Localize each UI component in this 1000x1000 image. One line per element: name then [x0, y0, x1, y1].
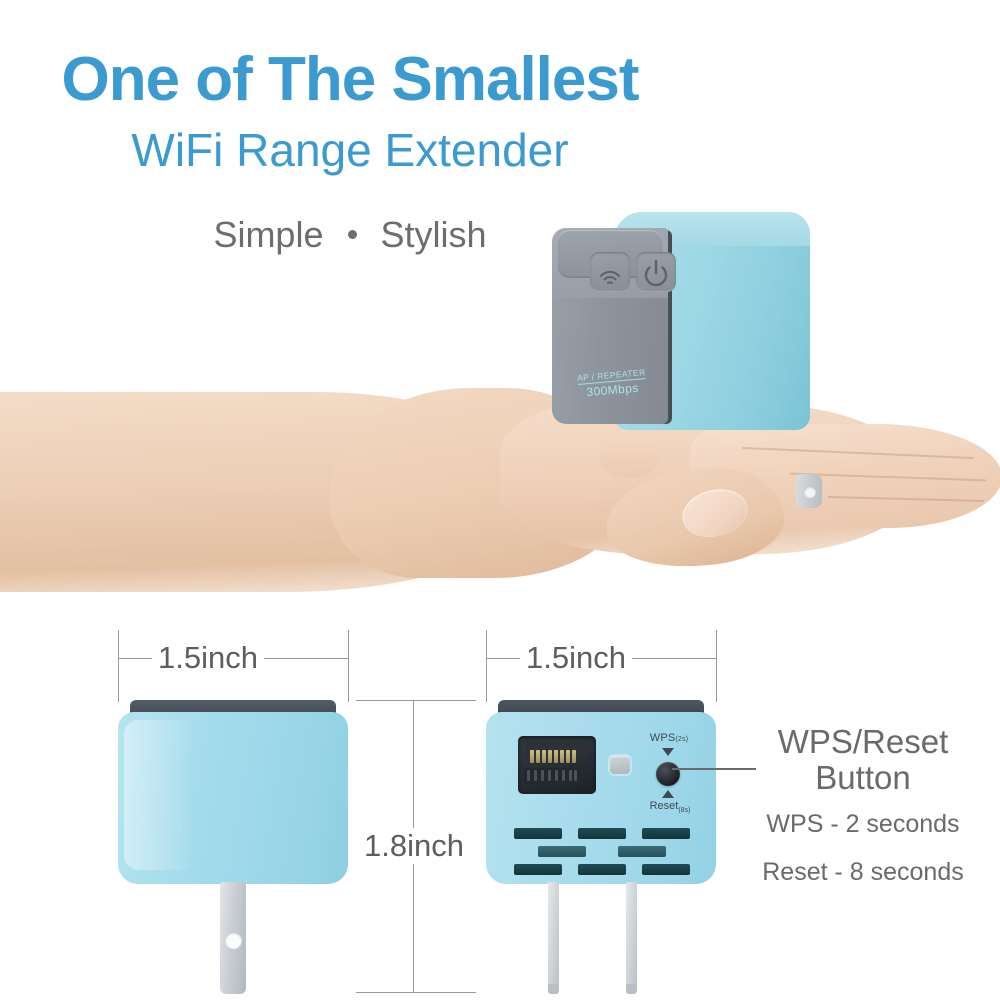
rj45-lower-cavity [524, 768, 580, 784]
callout-detail-wps: WPS - 2 seconds [726, 807, 1000, 843]
dimension-label-width-right: 1.5inch [520, 640, 632, 676]
product-marketing-image: One of The Smallest WiFi Range Extender … [0, 0, 1000, 1000]
thumb-knuckle [600, 438, 660, 478]
reset-label-text: Reset [650, 800, 679, 812]
tagline-word-stylish: Stylish [381, 214, 487, 255]
extension-line [118, 630, 119, 702]
dimension-label-height: 1.8inch [358, 828, 470, 864]
status-led [610, 756, 630, 774]
plug-blade [626, 882, 637, 994]
wps-duration-text: (2s) [675, 736, 688, 743]
callout-title-line1: WPS/Reset [726, 724, 1000, 760]
wps-label: WPS(2s) [626, 732, 712, 744]
extension-line [716, 630, 717, 702]
vent-row [538, 846, 666, 857]
callout-wps-reset: WPS/Reset Button WPS - 2 seconds Reset -… [726, 724, 1000, 890]
power-glyph [636, 252, 676, 292]
headline-secondary: WiFi Range Extender [0, 126, 700, 174]
extension-line [356, 700, 476, 701]
power-icon[interactable] [636, 252, 676, 292]
arrow-down-icon [662, 748, 674, 756]
vent-row [514, 864, 690, 875]
tagline-word-simple: Simple [213, 214, 323, 255]
wifi-icon[interactable] [590, 252, 630, 292]
callout-title-line2: Button [726, 760, 1000, 796]
arrow-up-icon [662, 790, 674, 798]
reset-duration-text: (8s) [678, 807, 690, 814]
plug-blade [548, 882, 559, 994]
vent-row [514, 828, 690, 839]
reset-label: Reset(8s) [624, 800, 716, 814]
plug-blade-hole [225, 932, 242, 949]
bullet-separator-icon [348, 230, 357, 239]
rj45-gold-pins [530, 750, 576, 763]
extension-line [486, 630, 487, 702]
device-front-view: WPS(2s) Reset(8s) [486, 700, 716, 1000]
callout-detail-reset: Reset - 8 seconds [726, 855, 1000, 891]
device-side-view [118, 700, 348, 1000]
wps-label-text: WPS [650, 732, 676, 744]
dimension-label-width-left: 1.5inch [152, 640, 264, 676]
wps-reset-button[interactable] [656, 762, 680, 786]
headline-primary: One of The Smallest [0, 48, 700, 112]
wifi-glyph [590, 252, 630, 292]
device-highlight [124, 720, 194, 870]
extension-line [356, 992, 476, 993]
button-pad [558, 230, 662, 278]
device-held-in-hand: AP / REPEATER 300Mbps [530, 212, 820, 440]
prong-hole [804, 486, 816, 498]
extension-line [348, 630, 349, 702]
